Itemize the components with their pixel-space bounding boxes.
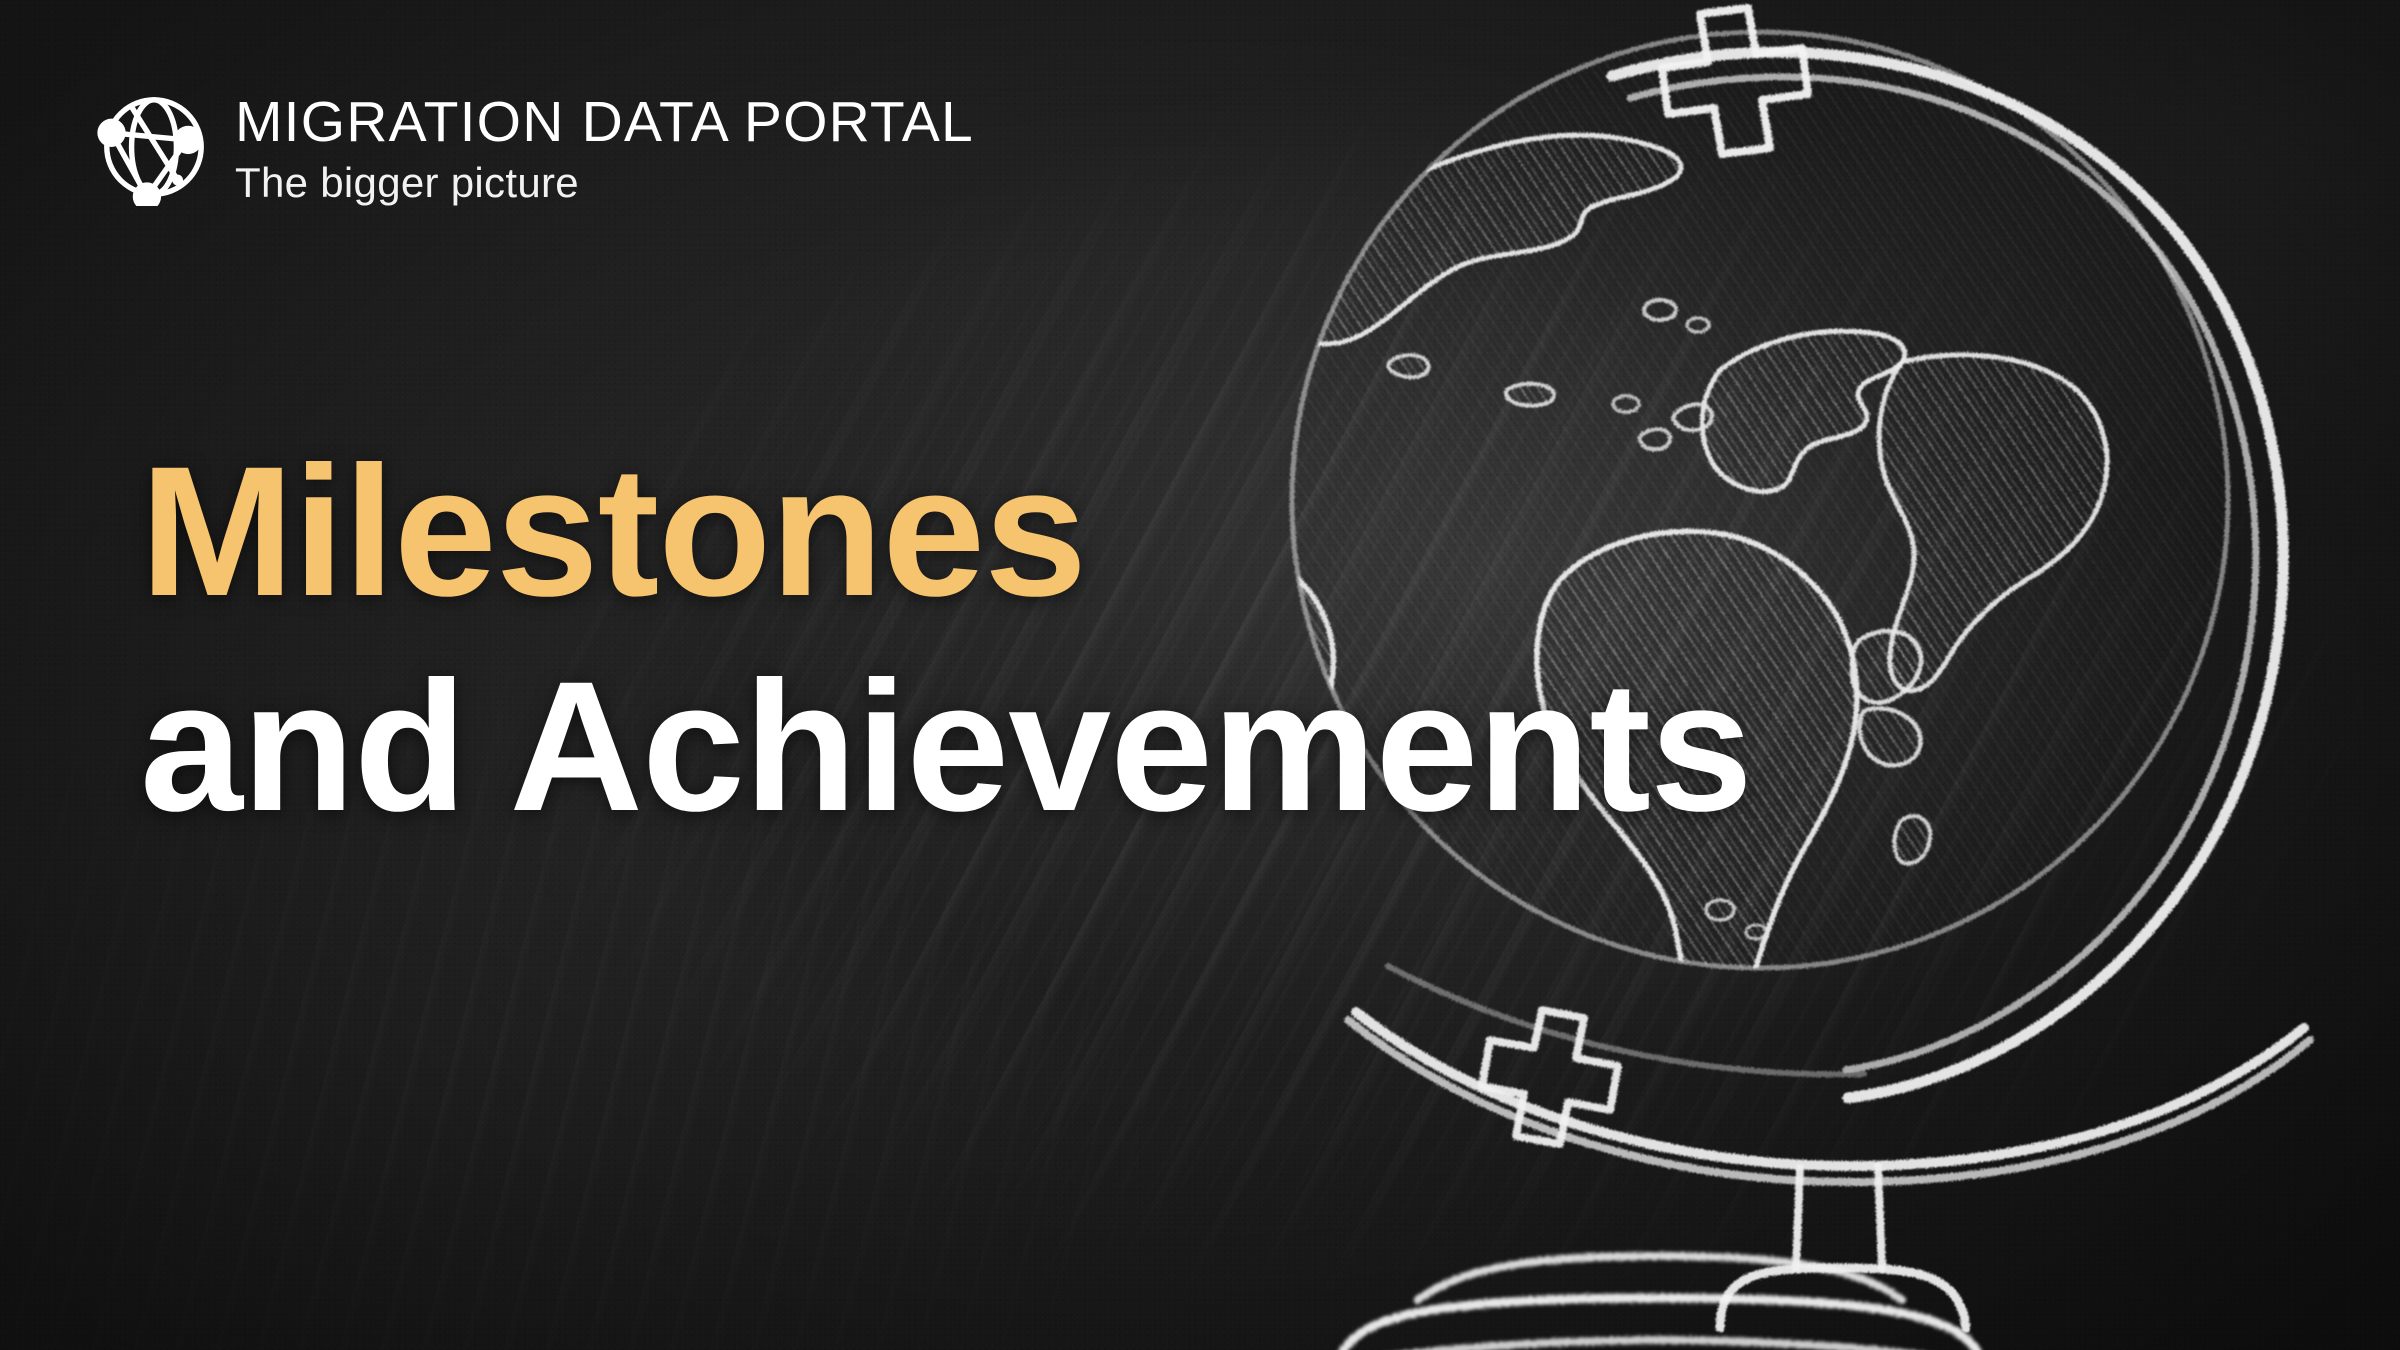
page-title: Milestones and Achievements bbox=[140, 440, 1752, 840]
brand-logo[interactable]: MIGRATION DATA PORTAL The bigger picture bbox=[95, 88, 974, 206]
slide-canvas: MIGRATION DATA PORTAL The bigger picture… bbox=[0, 0, 2400, 1350]
brand-tagline: The bigger picture bbox=[235, 162, 974, 204]
brand-name: MIGRATION DATA PORTAL bbox=[235, 94, 974, 151]
title-line-milestones: Milestones bbox=[140, 440, 1752, 625]
globe-network-icon bbox=[95, 88, 213, 206]
title-line-achievements: and Achievements bbox=[140, 655, 1752, 840]
